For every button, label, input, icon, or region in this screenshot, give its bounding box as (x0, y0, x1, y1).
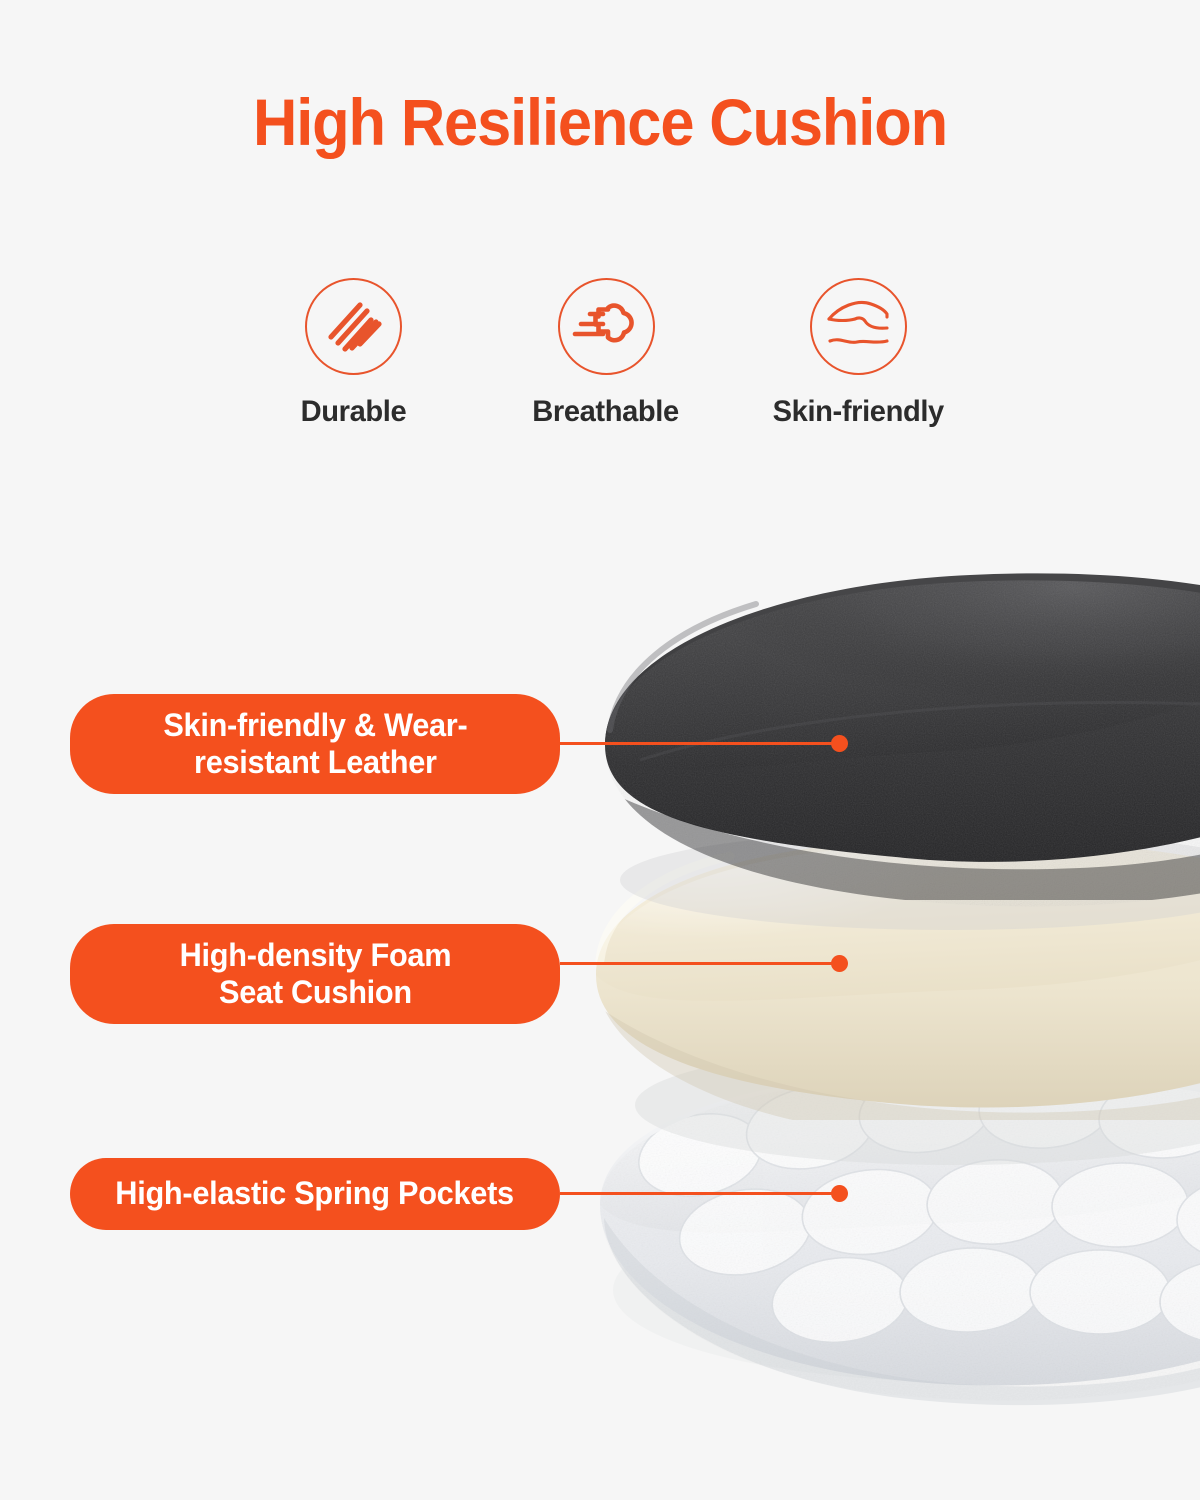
callout-pill-foam[interactable]: High-density Foam Seat Cushion (70, 924, 560, 1024)
feature-breathable: Breathable (489, 278, 724, 429)
callout-line-2: resistant Leather (163, 744, 467, 781)
callout-line-1: High-elastic Spring Pockets (116, 1175, 515, 1212)
feature-label: Durable (301, 395, 407, 429)
page-title: High Resilience Cushion (42, 88, 1158, 157)
feature-skin-friendly: Skin-friendly (741, 278, 976, 429)
hand-over-wave-icon (810, 278, 907, 375)
leader-line-leather (560, 742, 845, 745)
callout-line-2: Seat Cushion (179, 974, 451, 1011)
leader-line-spring (560, 1192, 845, 1195)
feature-durable: Durable (236, 278, 471, 429)
spring-bottom-layer (560, 1050, 1200, 1430)
feature-row: Durable Breathable (236, 278, 976, 429)
feature-label: Skin-friendly (773, 395, 944, 429)
leather-top-layer (580, 545, 1200, 930)
foam-middle-layer (570, 814, 1200, 1165)
infographic-page: High Resilience Cushion Durable (0, 0, 1200, 1500)
callout-pill-leather[interactable]: Skin-friendly & Wear- resistant Leather (70, 694, 560, 794)
callout-line-1: Skin-friendly & Wear- (163, 707, 467, 744)
callout-foam: High-density Foam Seat Cushion (70, 924, 560, 1024)
feature-label: Breathable (533, 395, 680, 429)
callout-pill-spring[interactable]: High-elastic Spring Pockets (70, 1158, 560, 1230)
callout-leather: Skin-friendly & Wear- resistant Leather (70, 694, 560, 794)
callout-line-1: High-density Foam (179, 937, 451, 974)
airflow-cloud-icon (558, 278, 655, 375)
fabric-weave-icon (305, 278, 402, 375)
leader-line-foam (560, 962, 845, 965)
callout-spring: High-elastic Spring Pockets (70, 1158, 560, 1230)
leader-dot-leather (831, 735, 848, 752)
leader-dot-foam (831, 955, 848, 972)
leader-dot-spring (831, 1185, 848, 1202)
